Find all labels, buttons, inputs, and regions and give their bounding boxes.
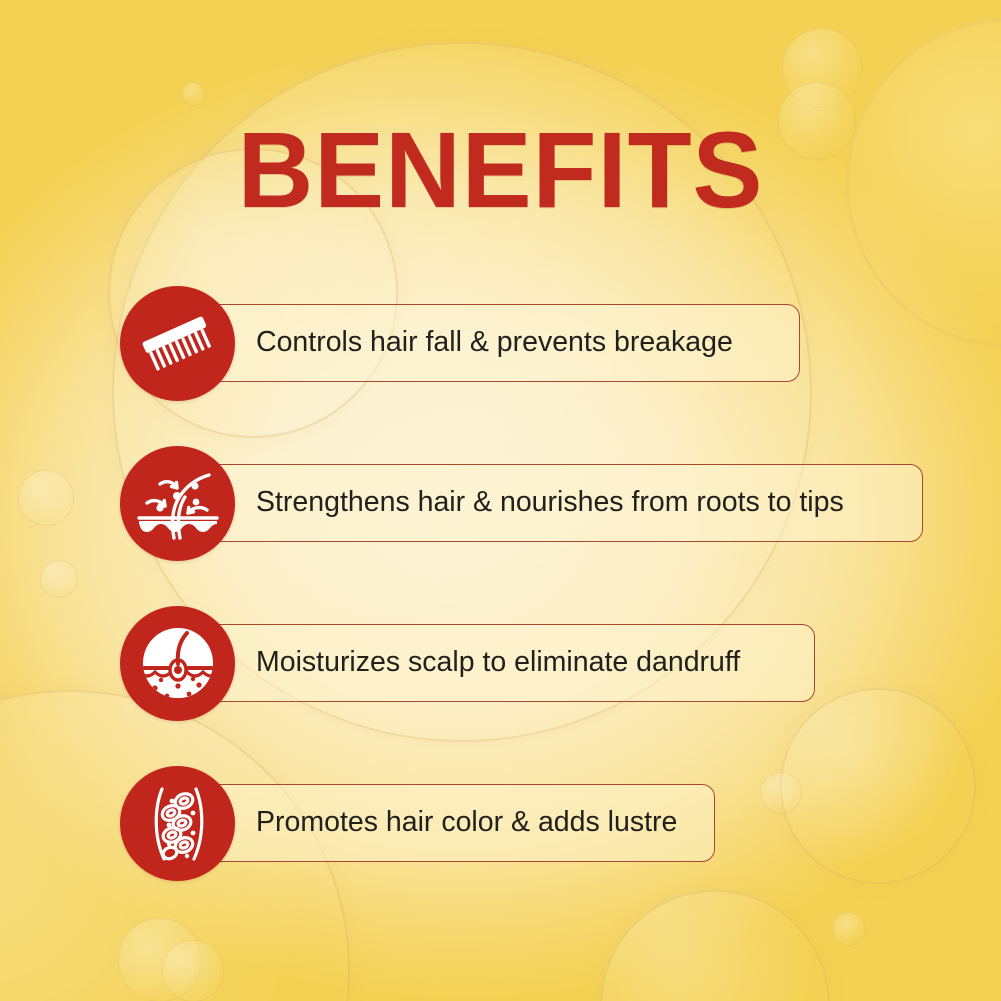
bubble-bottom-center-a — [118, 918, 202, 1001]
benefit-row-3[interactable]: Moisturizes scalp to eliminate dandruff — [120, 604, 815, 722]
benefit-icon-badge-3 — [120, 606, 235, 721]
benefits-infographic: BENEFITS — [0, 0, 1001, 1001]
benefit-row-1[interactable]: Controls hair fall & prevents breakage — [120, 284, 800, 402]
scalp-dandruff-icon — [131, 616, 225, 710]
benefit-row-4[interactable]: Promotes hair color & adds lustre — [120, 764, 715, 882]
bubble-small-left-low — [40, 560, 78, 598]
benefit-label-4: Promotes hair color & adds lustre — [174, 807, 703, 838]
bubble-tiny-top-center — [182, 82, 206, 106]
benefit-row-2[interactable]: Strengthens hair & nourishes from roots … — [120, 444, 923, 562]
bubble-bottom-center-b — [162, 940, 224, 1001]
bubble-small-top-right-a — [782, 28, 862, 108]
benefit-label-1: Controls hair fall & prevents breakage — [174, 327, 759, 358]
comb-icon — [135, 300, 221, 386]
bubble-bottom-right — [600, 890, 830, 1001]
benefit-pill-2[interactable]: Strengthens hair & nourishes from roots … — [173, 464, 923, 542]
hair-follicle-nourish-icon — [133, 458, 223, 548]
bubble-tiny-center-low — [832, 912, 866, 946]
benefit-icon-badge-4 — [120, 766, 235, 881]
page-title: BENEFITS — [15, 116, 986, 224]
benefit-icon-badge-2 — [120, 446, 235, 561]
benefit-label-2: Strengthens hair & nourishes from roots … — [174, 487, 870, 518]
benefit-label-3: Moisturizes scalp to eliminate dandruff — [174, 647, 766, 678]
benefit-pill-3[interactable]: Moisturizes scalp to eliminate dandruff — [173, 624, 815, 702]
bubble-small-left-mid — [18, 470, 74, 526]
bubble-small-right-mid — [760, 772, 802, 814]
benefit-icon-badge-1 — [120, 286, 235, 401]
benefit-pill-1[interactable]: Controls hair fall & prevents breakage — [173, 304, 800, 382]
benefit-pill-4[interactable]: Promotes hair color & adds lustre — [173, 784, 715, 862]
blood-vessel-cells-icon — [136, 781, 220, 865]
